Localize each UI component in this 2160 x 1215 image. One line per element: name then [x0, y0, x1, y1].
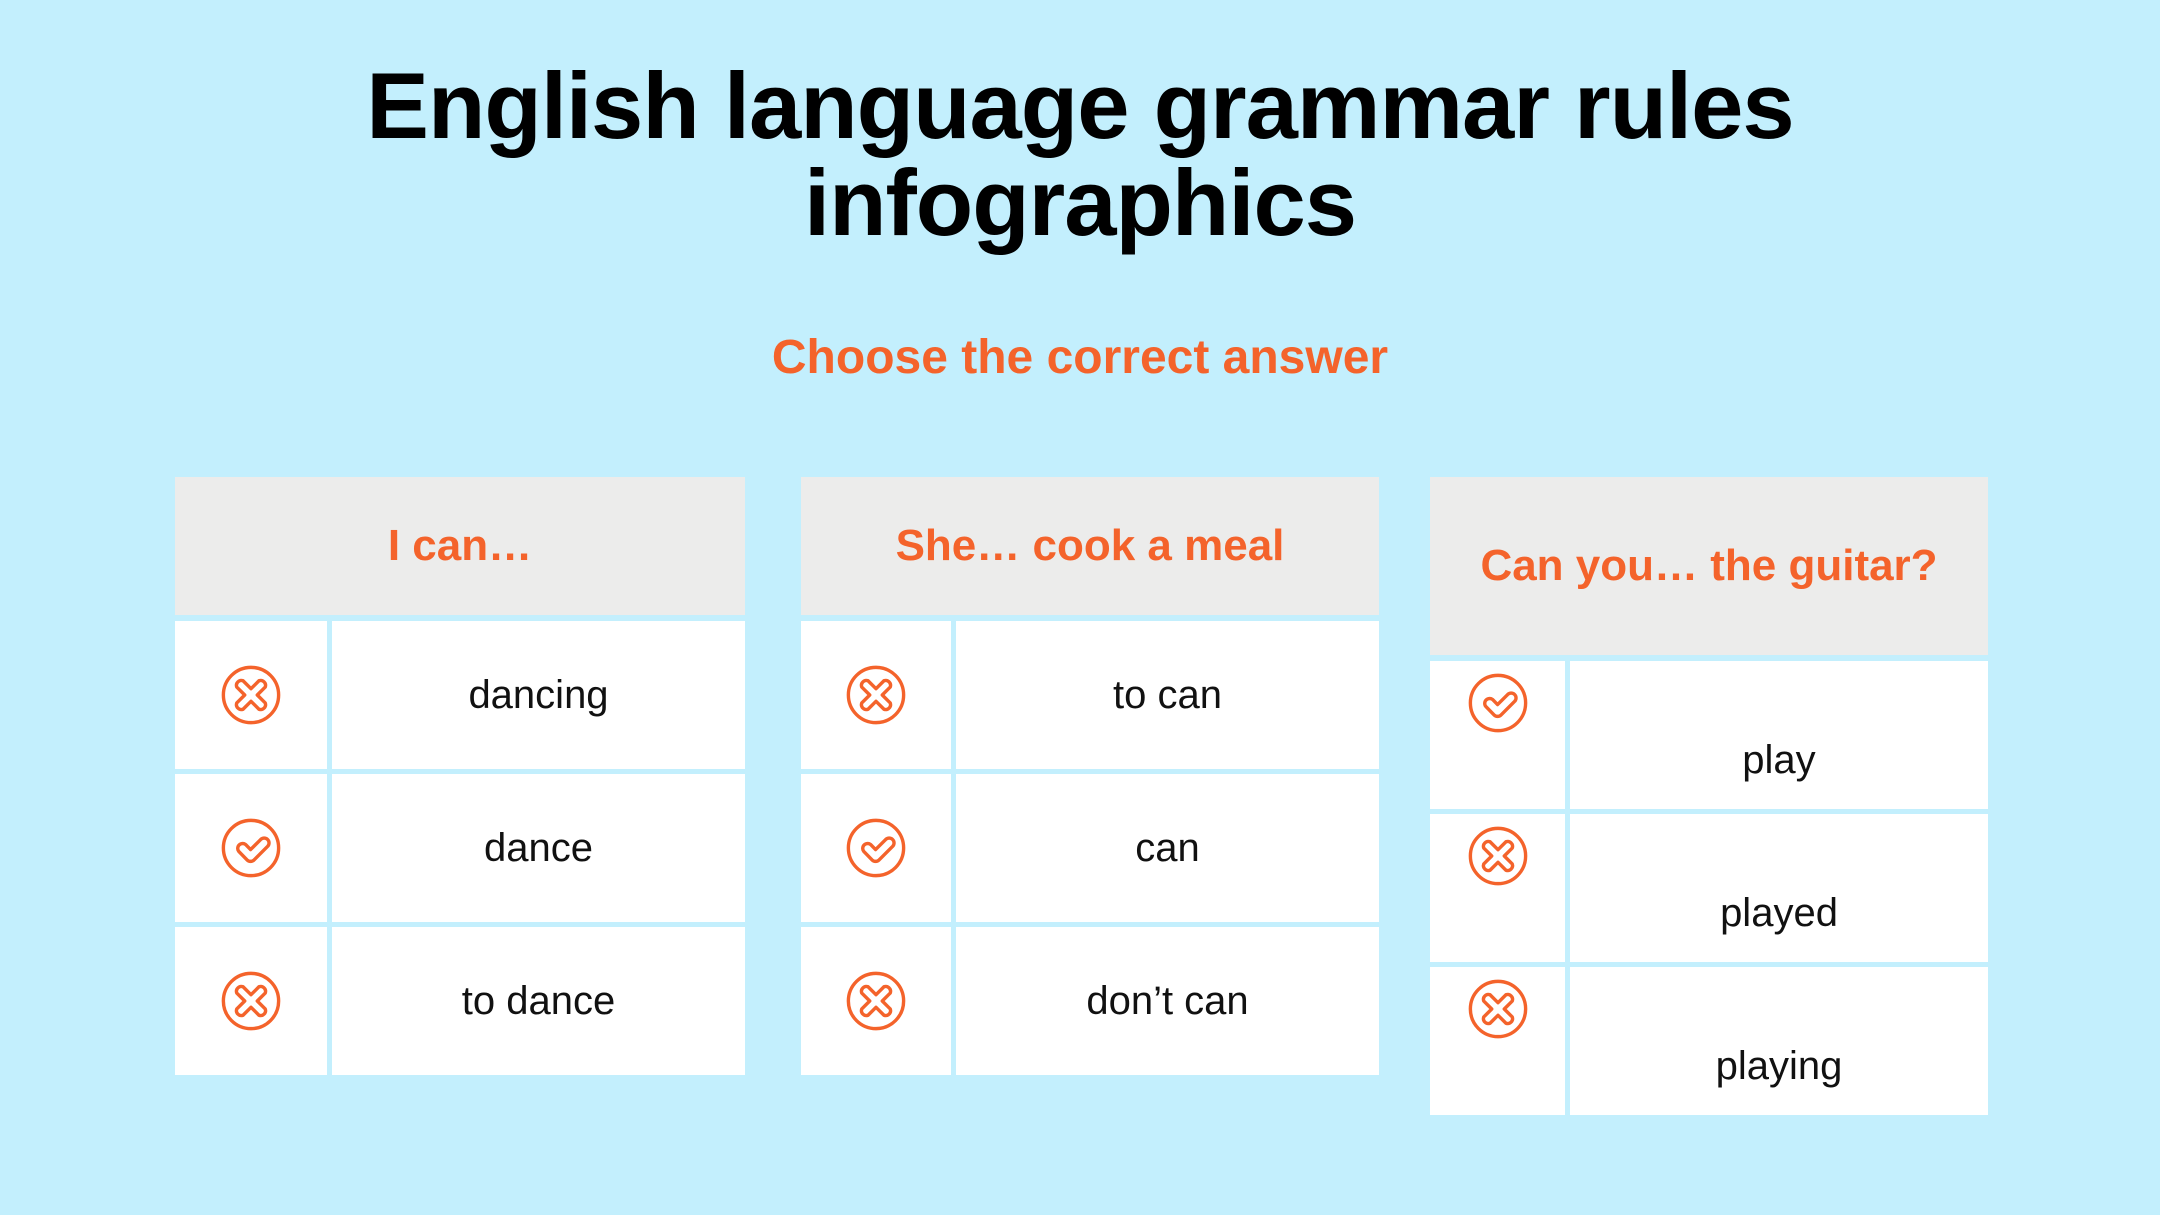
answer-option-row[interactable]: don’t can: [801, 927, 1379, 1075]
answer-option-label: to dance: [332, 927, 745, 1075]
answer-option-label: playing: [1570, 967, 1988, 1115]
answer-status-cell: [1430, 967, 1565, 1115]
answer-status-cell: [801, 927, 951, 1075]
answer-option-row[interactable]: to dance: [175, 927, 745, 1075]
answer-option-label: can: [956, 774, 1379, 922]
cross-circle-icon: [217, 967, 285, 1035]
answer-options-list: dancing dance: [175, 621, 745, 1075]
cross-circle-icon: [842, 661, 910, 729]
answer-option-label: to can: [956, 621, 1379, 769]
question-header: I can…: [175, 477, 745, 615]
answer-option-row[interactable]: to can: [801, 621, 1379, 769]
answer-status-cell: [175, 621, 327, 769]
answer-status-cell: [801, 774, 951, 922]
answer-status-cell: [1430, 814, 1565, 962]
answer-options-list: to can can: [801, 621, 1379, 1075]
answer-option-row[interactable]: can: [801, 774, 1379, 922]
cross-circle-icon: [1464, 975, 1532, 1043]
answer-option-label: play: [1570, 661, 1988, 809]
answer-option-label: dancing: [332, 621, 745, 769]
question-card: She… cook a meal to can: [801, 477, 1379, 1075]
answer-option-row[interactable]: playing: [1430, 967, 1988, 1115]
answer-option-row[interactable]: play: [1430, 661, 1988, 809]
check-circle-icon: [217, 814, 285, 882]
answer-options-list: play played: [1430, 661, 1988, 1115]
answer-status-cell: [175, 927, 327, 1075]
answer-status-cell: [1430, 661, 1565, 809]
answer-option-row[interactable]: played: [1430, 814, 1988, 962]
answer-option-label: dance: [332, 774, 745, 922]
infographic-slide: English language grammar rules infograph…: [0, 0, 2160, 1215]
answer-option-label: played: [1570, 814, 1988, 962]
question-header: Can you… the guitar?: [1430, 477, 1988, 655]
question-cards: I can… dancing: [0, 0, 2160, 1215]
cross-circle-icon: [1464, 822, 1532, 890]
cross-circle-icon: [842, 967, 910, 1035]
answer-option-row[interactable]: dancing: [175, 621, 745, 769]
question-card: I can… dancing: [175, 477, 745, 1075]
question-card: Can you… the guitar? play: [1430, 477, 1988, 1115]
check-circle-icon: [842, 814, 910, 882]
question-header: She… cook a meal: [801, 477, 1379, 615]
cross-circle-icon: [217, 661, 285, 729]
answer-status-cell: [175, 774, 327, 922]
check-circle-icon: [1464, 669, 1532, 737]
answer-status-cell: [801, 621, 951, 769]
answer-option-row[interactable]: dance: [175, 774, 745, 922]
answer-option-label: don’t can: [956, 927, 1379, 1075]
